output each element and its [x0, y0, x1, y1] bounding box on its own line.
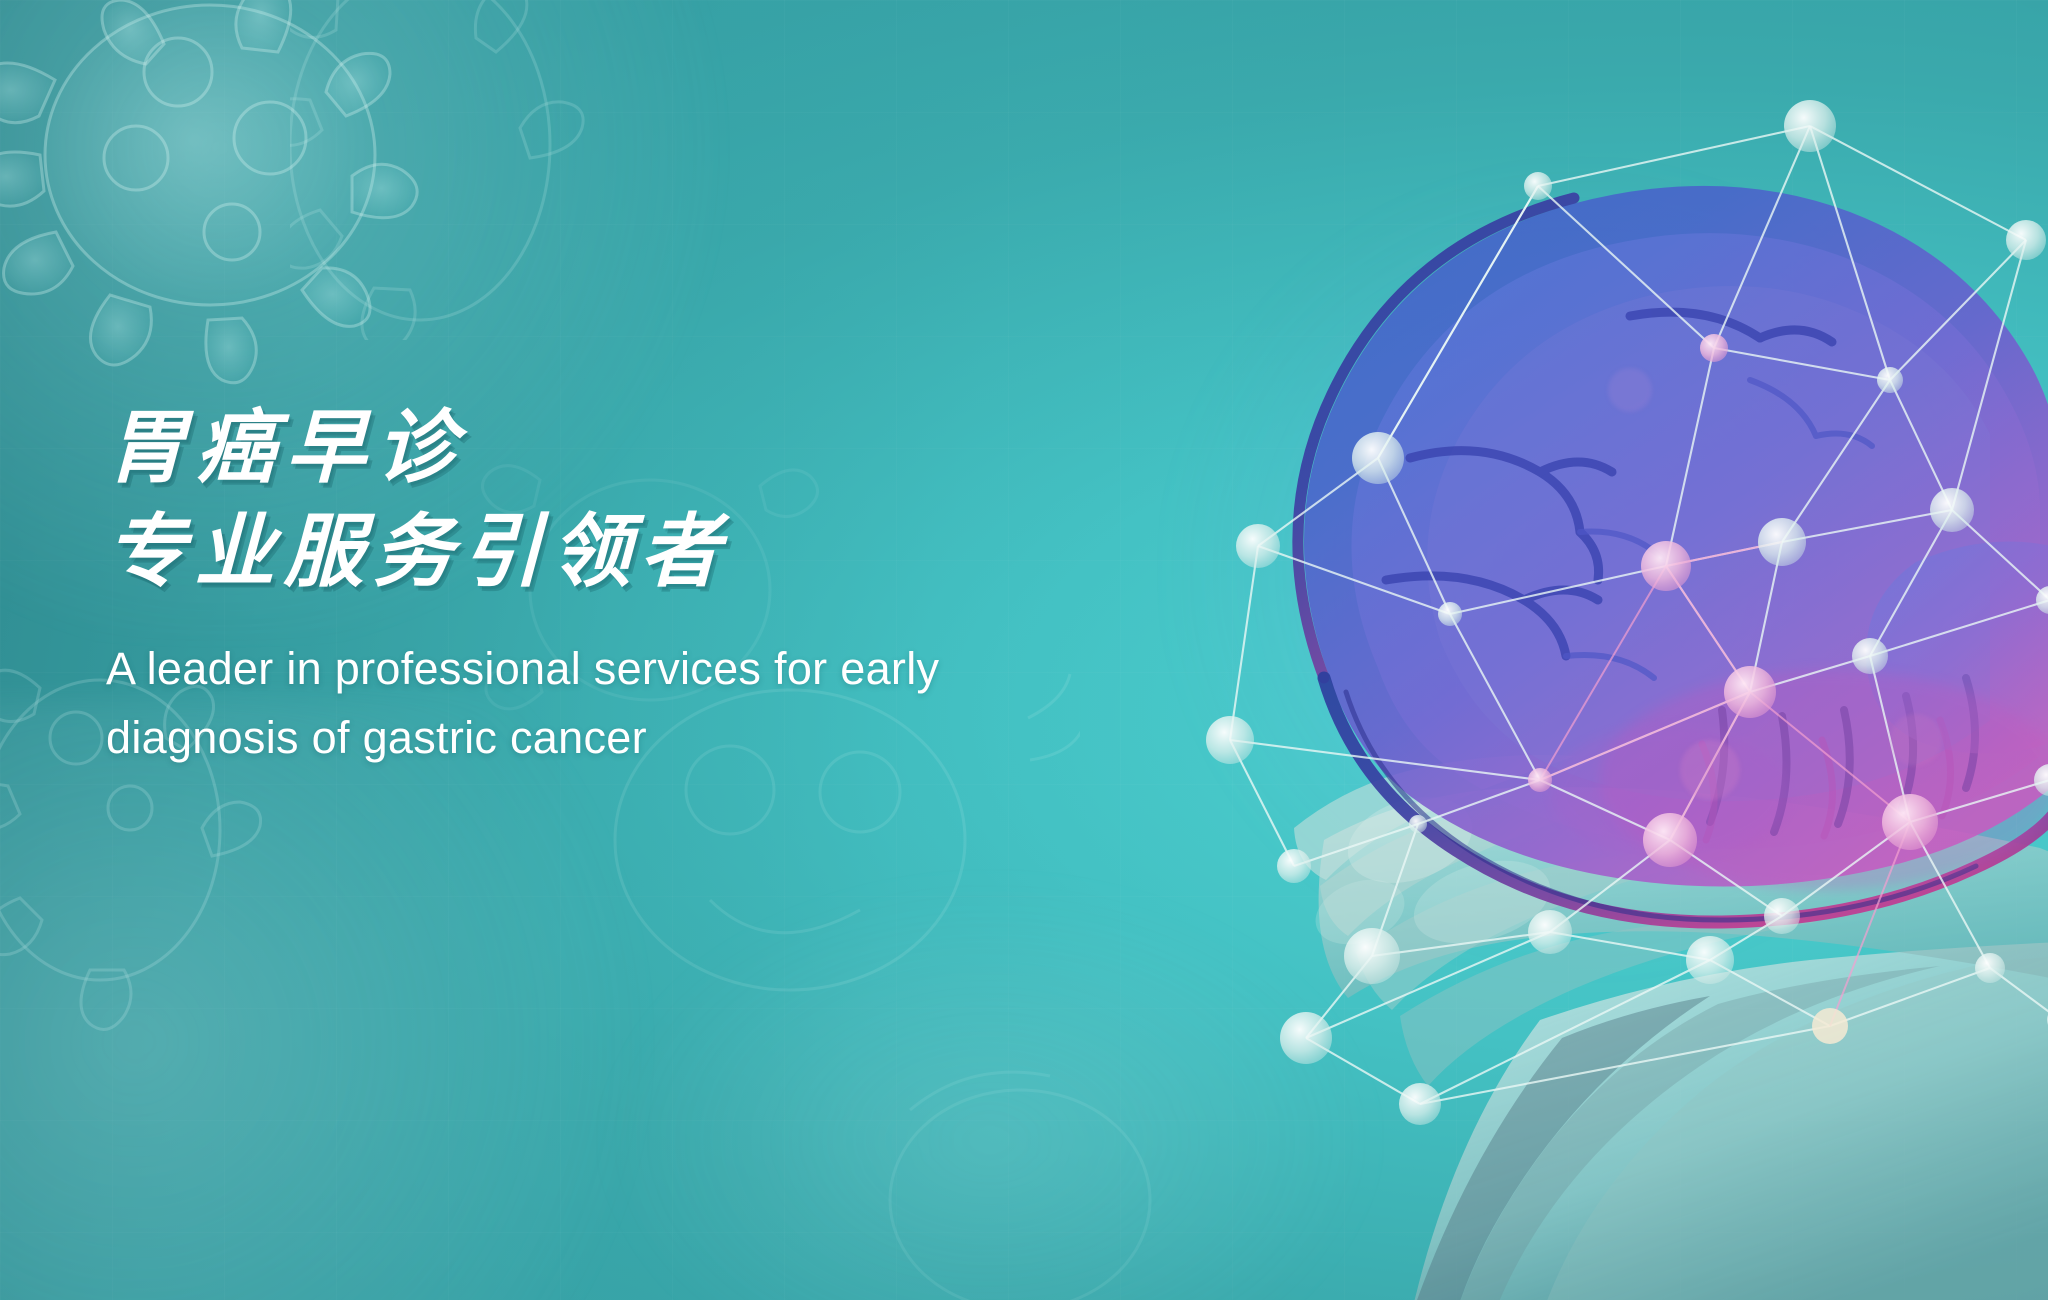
banner-copy: 胃癌早诊 专业服务引领者 A leader in professional se… [106, 396, 1186, 772]
organ-and-hand-graphic [1110, 80, 2048, 1300]
headline-line-2: 专业服务引领者 [105, 500, 1187, 604]
subtitle: A leader in professional services for ea… [106, 634, 1116, 772]
banner-root: 胃癌早诊 专业服务引领者 A leader in professional se… [0, 0, 2048, 1300]
headline-line-1: 胃癌早诊 [105, 396, 1187, 500]
stomach-illustration [1110, 80, 2048, 1300]
